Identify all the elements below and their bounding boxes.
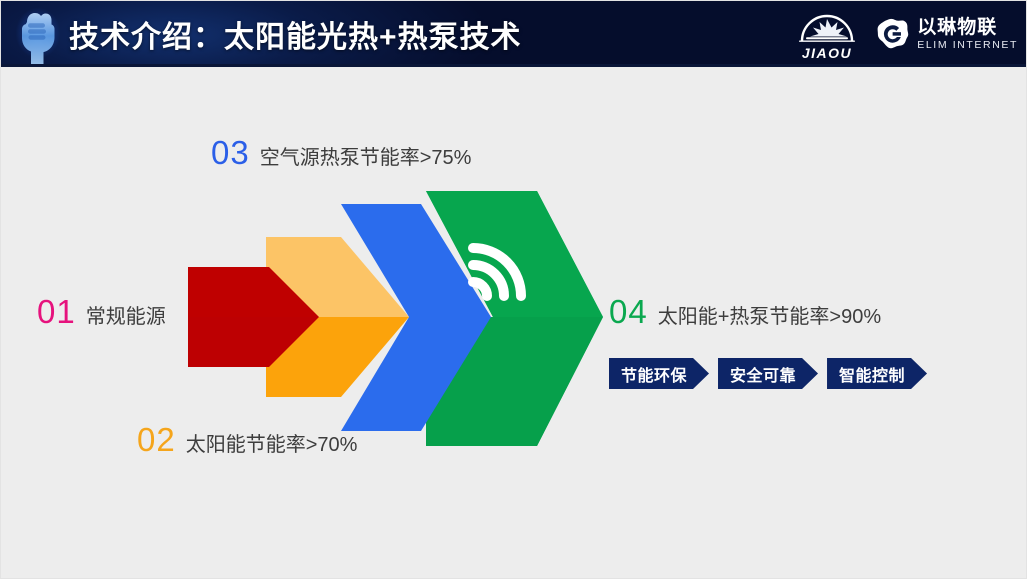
- step-number-04: 04: [609, 293, 648, 331]
- step-label-01: 01 常规能源: [37, 293, 166, 331]
- slide-canvas: 技术介绍：太阳能光热+热泵技术 JIAOU 以琳物联 ELIM INTERNET: [0, 0, 1027, 579]
- logo-elim: 以琳物联 ELIM INTERNET: [876, 9, 1018, 59]
- logo-elim-en: ELIM INTERNET: [917, 40, 1018, 51]
- step-text-01: 常规能源: [86, 300, 166, 329]
- step-number-02: 02: [137, 421, 176, 459]
- sun-arch-icon: [784, 7, 870, 47]
- step-text-04: 太阳能+热泵节能率>90%: [658, 300, 881, 329]
- step-label-03: 03 空气源热泵节能率>75%: [211, 134, 471, 172]
- logo-elim-cn: 以琳物联: [917, 18, 1018, 37]
- logo-jiaou-text: JIAOU: [784, 45, 870, 61]
- step-number-01: 01: [37, 293, 76, 331]
- step-label-04: 04 太阳能+热泵节能率>90%: [609, 293, 881, 331]
- feature-badge-smart-control: 智能控制: [827, 358, 927, 389]
- elim-g-icon: [876, 12, 909, 56]
- fist-icon: [9, 3, 67, 65]
- fist-icon-glyph: [15, 6, 61, 64]
- feature-badge-row: 节能环保 安全可靠 智能控制: [609, 358, 927, 389]
- feature-badge-safe-reliable: 安全可靠: [718, 358, 818, 389]
- page-title: 技术介绍：太阳能光热+热泵技术: [69, 12, 522, 56]
- step-text-02: 太阳能节能率>70%: [186, 428, 358, 457]
- step-text-03: 空气源热泵节能率>75%: [260, 141, 472, 170]
- logo-jiaou: JIAOU: [784, 7, 870, 61]
- step-number-03: 03: [211, 134, 250, 172]
- logo-elim-words: 以琳物联 ELIM INTERNET: [917, 18, 1018, 51]
- feature-badge-energy-saving: 节能环保: [609, 358, 709, 389]
- step-label-02: 02 太阳能节能率>70%: [137, 421, 357, 459]
- slide-header: 技术介绍：太阳能光热+热泵技术 JIAOU 以琳物联 ELIM INTERNET: [1, 1, 1027, 67]
